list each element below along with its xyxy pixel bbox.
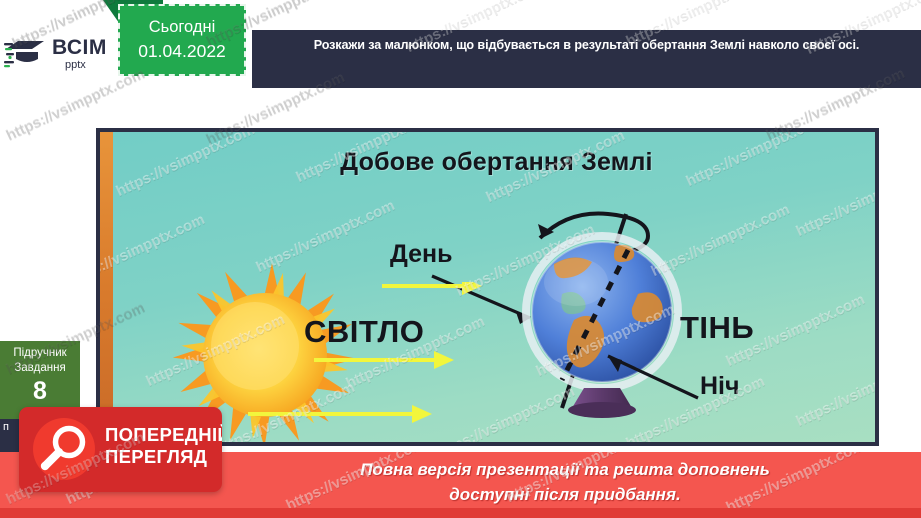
header-text: Розкажи за малюнком, що відбувається в р…: [274, 36, 899, 54]
label-day: День: [390, 240, 453, 269]
brand-logo[interactable]: ВСІМ pptx: [4, 28, 108, 80]
textbook-card-line2: Завдання: [0, 362, 80, 374]
preview-watermark-badge: ПОПЕРЕДНІЙ ПЕРЕГЛЯД: [19, 407, 222, 492]
preview-badge-line2: ПЕРЕГЛЯД: [105, 446, 222, 468]
textbook-card-line1: Підручник: [0, 347, 80, 359]
header-bar: Розкажи за малюнком, що відбувається в р…: [252, 30, 921, 88]
graduation-cap-icon: [4, 35, 48, 73]
watermark-text: https://vsimpptx.com: [793, 351, 875, 430]
sidebar-white-spacer: [0, 300, 80, 342]
illustration-title: Добове обертання Землі: [100, 148, 875, 177]
label-shadow: ТІНЬ: [680, 310, 754, 346]
preview-badge-line1: ПОПЕРЕДНІЙ: [105, 424, 222, 446]
sidebar-navy-card-text: п: [3, 421, 9, 433]
date-badge-value: 01.04.2022: [138, 41, 226, 62]
banner-bottom-strip: [0, 508, 921, 518]
purchase-notice-line2: доступні після придбання.: [240, 483, 890, 508]
illustration-canvas: Добове обертання Землі: [100, 132, 875, 442]
logo-sub-text: pptx: [65, 60, 107, 71]
purchase-notice-line1: Повна версія презентації та решта доповн…: [240, 458, 890, 483]
orange-edge-decoration: [100, 132, 113, 442]
textbook-card-number: 8: [0, 377, 80, 406]
date-badge: Сьогодні 01.04.2022: [118, 4, 246, 76]
logo-main-text: ВСІМ: [52, 37, 107, 58]
lesson-illustration-panel[interactable]: Добове обертання Землі: [96, 128, 879, 446]
night-pointer-arrow-icon: [598, 350, 708, 404]
date-badge-label: Сьогодні: [149, 18, 216, 37]
magnifier-icon: [33, 418, 95, 480]
slide-root: ВСІМ pptx Сьогодні 01.04.2022 Розкажи за…: [0, 0, 921, 518]
